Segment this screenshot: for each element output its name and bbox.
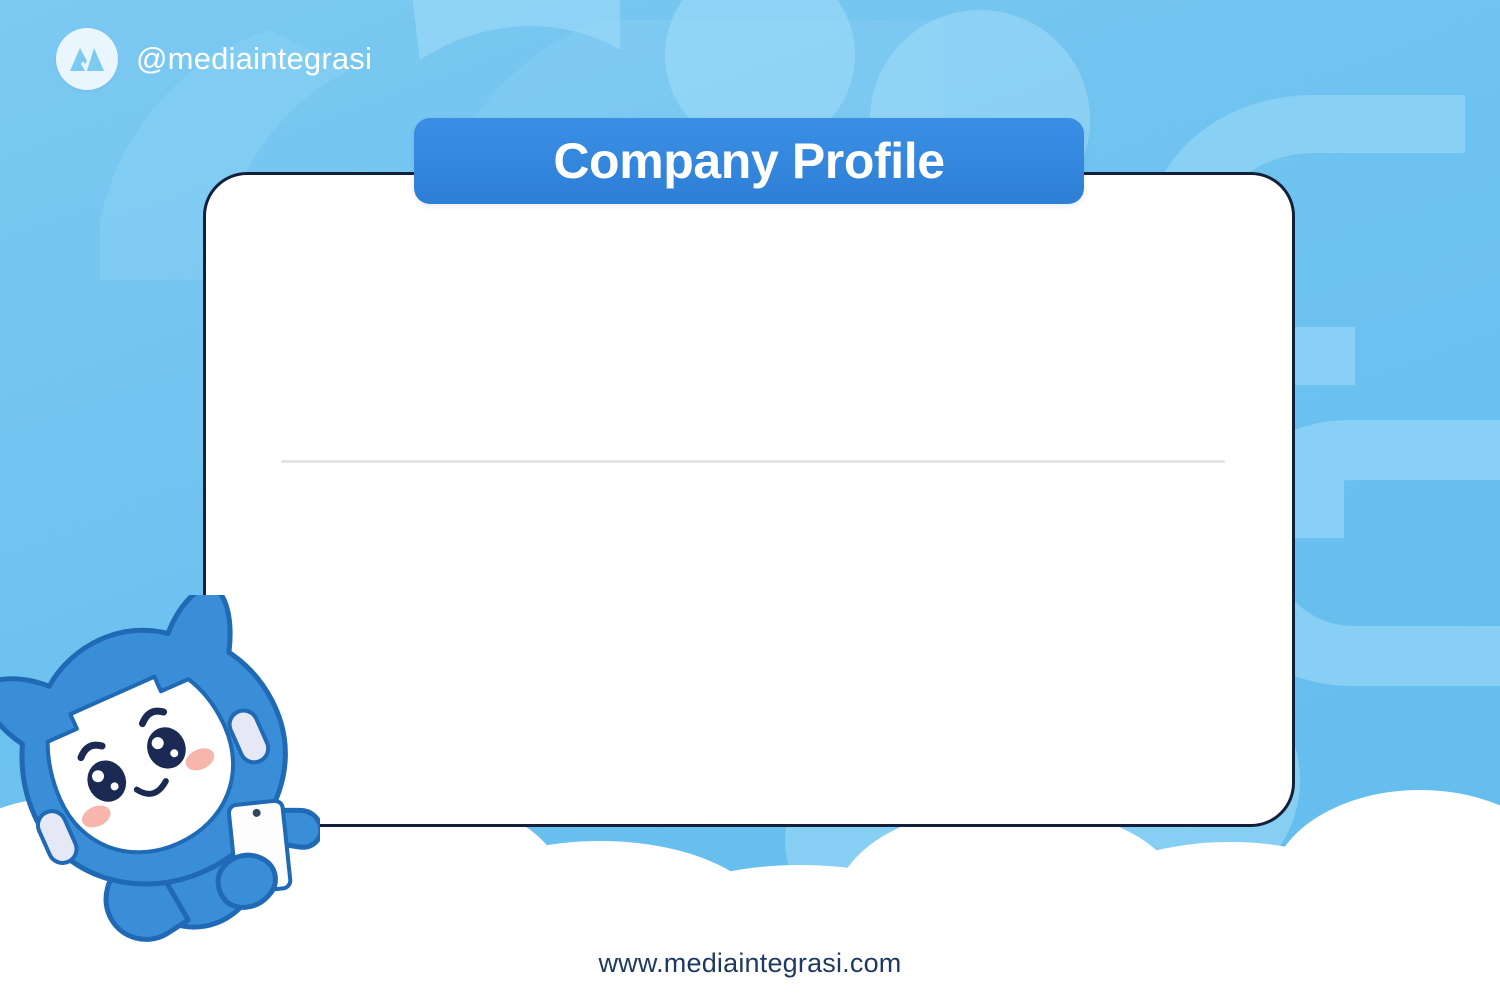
package-divider (281, 460, 1225, 463)
brand-handle-text: @mediaintegrasi (136, 41, 372, 77)
mountain-m-logo-icon (67, 44, 107, 74)
brand-bar: @mediaintegrasi (56, 28, 372, 90)
title-chip: Company Profile (414, 118, 1084, 204)
brand-logo (56, 28, 118, 90)
page-title: Company Profile (553, 132, 944, 190)
content-card (203, 172, 1295, 827)
cat-mascot-with-phone (0, 595, 320, 955)
footer-website-url[interactable]: www.mediaintegrasi.com (0, 948, 1500, 979)
poster-canvas: @mediaintegrasi (0, 0, 1500, 1000)
